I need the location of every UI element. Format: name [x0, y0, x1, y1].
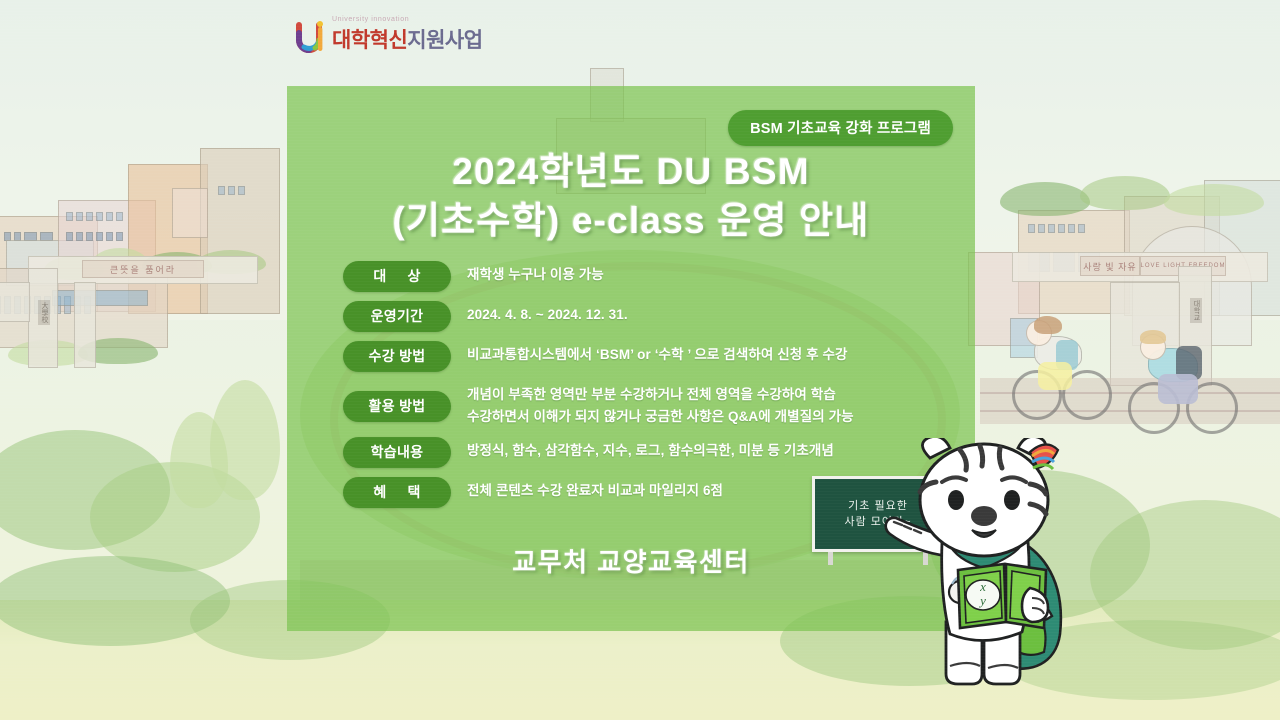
window	[106, 212, 113, 221]
logo-english-text: University innovation	[332, 16, 483, 23]
cyclist-hair	[1140, 330, 1166, 344]
info-row-usage: 활용 방법 개념이 부족한 영역만 부분 수강하거나 전체 영역을 수강하여 학…	[343, 381, 963, 428]
logo-korean-part-2: 지원사업	[407, 29, 482, 52]
building-left-grey	[172, 188, 208, 238]
window	[86, 232, 93, 241]
bush	[1000, 182, 1090, 216]
info-row-curriculum: 학습내용 방정식, 함수, 삼각함수, 지수, 로그, 함수의극한, 미분 등 …	[343, 437, 963, 468]
window	[66, 212, 73, 221]
window	[106, 232, 113, 241]
cyclist-left	[1012, 314, 1122, 424]
info-label-target: 대 상	[343, 261, 451, 292]
cyclist-legs	[1158, 374, 1198, 404]
window-row	[218, 186, 245, 195]
info-value-usage: 개념이 부족한 영역만 부분 수강하거나 전체 영역을 수강하여 학습 수강하면…	[467, 381, 854, 428]
left-gate-sign: 큰뜻을 품어라	[82, 260, 204, 278]
building-left-tan	[200, 148, 280, 314]
window	[218, 186, 225, 195]
info-row-enrollment: 수강 방법 비교과통합시스템에서 ‘BSM’ or ‘수학 ’ 으로 검색하여 …	[343, 341, 963, 372]
svg-text:x: x	[979, 579, 986, 594]
logo-korean-text: 대학혁신지원사업	[332, 24, 483, 54]
building-left-blueband	[52, 290, 148, 306]
left-gate-wall	[0, 282, 30, 322]
window	[1028, 224, 1035, 233]
page-title: 2024학년도 DU BSM (기초수학) e-class 운영 안내	[287, 148, 975, 246]
bush	[1080, 176, 1170, 210]
window	[66, 232, 73, 241]
info-row-period: 운영기간 2024. 4. 8. ~ 2024. 12. 31.	[343, 301, 963, 332]
logo-text: University innovation 대학혁신지원사업	[332, 16, 483, 55]
info-label-benefit: 혜 택	[343, 477, 451, 508]
window	[86, 212, 93, 221]
white-tiger-mascot: x y	[880, 438, 1095, 690]
window	[1048, 224, 1055, 233]
cyclist-right	[1128, 330, 1248, 442]
logo-korean-part-1: 대학혁신	[332, 29, 407, 52]
window	[76, 232, 83, 241]
title-line-1: 2024학년도 DU BSM	[287, 148, 975, 197]
info-label-enrollment: 수강 방법	[343, 341, 451, 372]
right-gate-sign-ko: 사랑 빛 자유	[1080, 256, 1140, 276]
info-label-period: 운영기간	[343, 301, 451, 332]
left-gate-pillar-text: 大學校	[38, 300, 50, 325]
info-value-period: 2024. 4. 8. ~ 2024. 12. 31.	[467, 301, 628, 326]
university-innovation-logo: University innovation 대학혁신지원사업	[296, 16, 483, 55]
left-gate-pillar-2	[74, 282, 96, 368]
window-row	[66, 212, 123, 221]
window	[228, 186, 235, 195]
window	[1078, 224, 1085, 233]
title-line-2: (기초수학) e-class 운영 안내	[287, 197, 975, 246]
cyclist-hair	[1034, 316, 1062, 334]
info-value-target: 재학생 누구나 이용 가능	[467, 261, 604, 286]
window	[1068, 224, 1075, 233]
blackboard-leg	[828, 552, 833, 565]
window	[116, 232, 123, 241]
poster-canvas: 큰뜻을 품어라 大學校	[0, 0, 1280, 720]
right-gate-pillar-text: 대학교	[1190, 298, 1202, 323]
window	[76, 212, 83, 221]
info-label-usage: 활용 방법	[343, 391, 451, 422]
info-value-enrollment: 비교과통합시스템에서 ‘BSM’ or ‘수학 ’ 으로 검색하여 신청 후 수…	[467, 341, 848, 366]
info-row-target: 대 상 재학생 누구나 이용 가능	[343, 261, 963, 292]
window	[1038, 224, 1045, 233]
info-value-benefit: 전체 콘텐츠 수강 완료자 비교과 마일리지 6점	[467, 477, 723, 502]
u-logo-mark-icon	[296, 21, 326, 55]
svg-text:y: y	[978, 593, 986, 608]
window	[116, 212, 123, 221]
window	[96, 212, 103, 221]
window-row	[66, 232, 123, 241]
window	[238, 186, 245, 195]
program-badge: BSM 기초교육 강화 프로그램	[728, 110, 953, 146]
window	[96, 232, 103, 241]
cyclist-legs	[1038, 362, 1072, 390]
bush	[1164, 184, 1264, 216]
info-label-curriculum: 학습내용	[343, 437, 451, 468]
window	[1058, 224, 1065, 233]
info-value-curriculum: 방정식, 함수, 삼각함수, 지수, 로그, 함수의극한, 미분 등 기초개념	[467, 437, 834, 462]
window-row	[1028, 224, 1085, 233]
